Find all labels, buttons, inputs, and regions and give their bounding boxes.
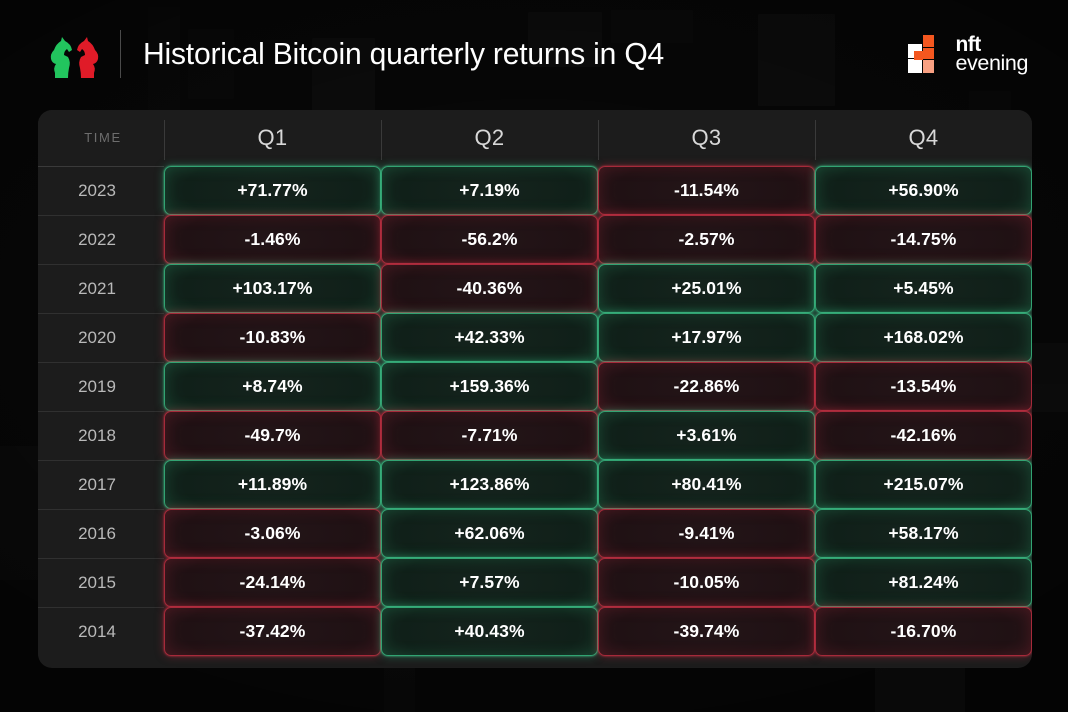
return-cell-negative[interactable]: -3.06%: [164, 509, 381, 558]
return-cell-wrapper: -56.2%: [381, 215, 598, 264]
return-cell-wrapper: +11.89%: [164, 460, 381, 509]
year-cell: 2017: [38, 460, 164, 509]
return-cell-wrapper: +71.77%: [164, 166, 381, 215]
header-bar: Historical Bitcoin quarterly returns in …: [0, 0, 1068, 108]
return-value: -37.42%: [240, 621, 306, 642]
return-cell-positive[interactable]: +80.41%: [598, 460, 815, 509]
year-cell: 2015: [38, 558, 164, 607]
return-cell-positive[interactable]: +25.01%: [598, 264, 815, 313]
return-value: -49.7%: [244, 425, 300, 446]
return-value: +5.45%: [893, 278, 953, 299]
return-cell-positive[interactable]: +71.77%: [164, 166, 381, 215]
return-cell-wrapper: +123.86%: [381, 460, 598, 509]
return-value: -16.70%: [891, 621, 957, 642]
return-cell-negative[interactable]: -2.57%: [598, 215, 815, 264]
column-header-q1: Q1: [164, 110, 381, 166]
return-value: -2.57%: [678, 229, 734, 250]
brand-text: nft evening: [955, 36, 1028, 73]
table-row: 2019+8.74%+159.36%-22.86%-13.54%: [38, 362, 1032, 411]
return-cell-wrapper: -14.75%: [815, 215, 1032, 264]
return-cell-wrapper: +81.24%: [815, 558, 1032, 607]
table-row: 2014-37.42%+40.43%-39.74%-16.70%: [38, 607, 1032, 656]
return-value: +42.33%: [454, 327, 524, 348]
return-cell-positive[interactable]: +11.89%: [164, 460, 381, 509]
return-cell-wrapper: -24.14%: [164, 558, 381, 607]
return-cell-negative[interactable]: -22.86%: [598, 362, 815, 411]
return-cell-negative[interactable]: -10.05%: [598, 558, 815, 607]
return-value: +168.02%: [883, 327, 963, 348]
return-value: -11.54%: [674, 180, 739, 201]
return-cell-positive[interactable]: +7.19%: [381, 166, 598, 215]
return-value: -24.14%: [240, 572, 306, 593]
table-row: 2016-3.06%+62.06%-9.41%+58.17%: [38, 509, 1032, 558]
return-value: -13.54%: [891, 376, 957, 397]
return-value: +17.97%: [671, 327, 741, 348]
return-cell-positive[interactable]: +3.61%: [598, 411, 815, 460]
column-header-time: TIME: [38, 110, 164, 166]
return-value: -10.05%: [674, 572, 740, 593]
return-cell-wrapper: -11.54%: [598, 166, 815, 215]
return-cell-positive[interactable]: +215.07%: [815, 460, 1032, 509]
return-cell-wrapper: -49.7%: [164, 411, 381, 460]
return-cell-negative[interactable]: -56.2%: [381, 215, 598, 264]
return-value: -42.16%: [891, 425, 957, 446]
return-value: -40.36%: [457, 278, 523, 299]
return-cell-negative[interactable]: -1.46%: [164, 215, 381, 264]
table-row: 2022-1.46%-56.2%-2.57%-14.75%: [38, 215, 1032, 264]
return-value: +56.90%: [888, 180, 958, 201]
return-value: -56.2%: [461, 229, 517, 250]
return-cell-positive[interactable]: +123.86%: [381, 460, 598, 509]
return-cell-negative[interactable]: -9.41%: [598, 509, 815, 558]
return-cell-positive[interactable]: +81.24%: [815, 558, 1032, 607]
return-cell-positive[interactable]: +168.02%: [815, 313, 1032, 362]
year-cell: 2016: [38, 509, 164, 558]
return-cell-positive[interactable]: +8.74%: [164, 362, 381, 411]
return-cell-wrapper: -39.74%: [598, 607, 815, 656]
return-value: +40.43%: [454, 621, 524, 642]
return-cell-positive[interactable]: +159.36%: [381, 362, 598, 411]
return-cell-positive[interactable]: +58.17%: [815, 509, 1032, 558]
return-cell-wrapper: -16.70%: [815, 607, 1032, 656]
return-cell-wrapper: -37.42%: [164, 607, 381, 656]
table-row: 2017+11.89%+123.86%+80.41%+215.07%: [38, 460, 1032, 509]
return-value: +80.41%: [671, 474, 741, 495]
return-value: +58.17%: [888, 523, 958, 544]
return-cell-wrapper: +58.17%: [815, 509, 1032, 558]
return-value: -9.41%: [678, 523, 734, 544]
return-cell-wrapper: +7.19%: [381, 166, 598, 215]
return-value: -10.83%: [240, 327, 306, 348]
brand-line-2: evening: [955, 55, 1028, 73]
return-value: +7.57%: [459, 572, 519, 593]
return-cell-negative[interactable]: -40.36%: [381, 264, 598, 313]
return-value: -14.75%: [891, 229, 957, 250]
return-cell-wrapper: -2.57%: [598, 215, 815, 264]
return-cell-wrapper: +168.02%: [815, 313, 1032, 362]
return-cell-wrapper: +103.17%: [164, 264, 381, 313]
return-value: -7.71%: [461, 425, 517, 446]
return-cell-wrapper: -9.41%: [598, 509, 815, 558]
return-cell-wrapper: -10.05%: [598, 558, 815, 607]
page-title: Historical Bitcoin quarterly returns in …: [143, 37, 664, 72]
return-cell-wrapper: +215.07%: [815, 460, 1032, 509]
table-body: 2023+71.77%+7.19%-11.54%+56.90%2022-1.46…: [38, 166, 1032, 656]
table-row: 2018-49.7%-7.71%+3.61%-42.16%: [38, 411, 1032, 460]
return-cell-wrapper: +8.74%: [164, 362, 381, 411]
return-cell-wrapper: -1.46%: [164, 215, 381, 264]
return-value: +103.17%: [232, 278, 312, 299]
return-value: +62.06%: [454, 523, 524, 544]
return-cell-negative[interactable]: -7.71%: [381, 411, 598, 460]
return-value: -1.46%: [244, 229, 300, 250]
return-cell-wrapper: +80.41%: [598, 460, 815, 509]
return-cell-wrapper: +7.57%: [381, 558, 598, 607]
return-cell-negative[interactable]: -16.70%: [815, 607, 1032, 656]
return-value: +25.01%: [671, 278, 741, 299]
return-cell-positive[interactable]: +56.90%: [815, 166, 1032, 215]
year-cell: 2023: [38, 166, 164, 215]
column-header-q4: Q4: [815, 110, 1032, 166]
return-cell-positive[interactable]: +103.17%: [164, 264, 381, 313]
return-value: -22.86%: [674, 376, 740, 397]
return-cell-positive[interactable]: +42.33%: [381, 313, 598, 362]
return-cell-wrapper: -22.86%: [598, 362, 815, 411]
return-cell-positive[interactable]: +62.06%: [381, 509, 598, 558]
brand-logo: nft evening: [908, 35, 1028, 73]
return-value: +215.07%: [883, 474, 963, 495]
year-cell: 2020: [38, 313, 164, 362]
table-row: 2015-24.14%+7.57%-10.05%+81.24%: [38, 558, 1032, 607]
return-cell-wrapper: -3.06%: [164, 509, 381, 558]
table-row: 2023+71.77%+7.19%-11.54%+56.90%: [38, 166, 1032, 215]
return-value: +3.61%: [676, 425, 736, 446]
return-cell-wrapper: +5.45%: [815, 264, 1032, 313]
return-cell-wrapper: -7.71%: [381, 411, 598, 460]
quarterly-returns-table: TIME Q1 Q2 Q3 Q4 2023+71.77%+7.19%-11.54…: [38, 110, 1032, 656]
return-value: -39.74%: [674, 621, 740, 642]
return-cell-positive[interactable]: +7.57%: [381, 558, 598, 607]
chess-pieces-icon: [42, 32, 106, 80]
return-cell-wrapper: +62.06%: [381, 509, 598, 558]
year-cell: 2022: [38, 215, 164, 264]
nft-evening-squares-icon: [908, 35, 946, 73]
return-cell-negative[interactable]: -37.42%: [164, 607, 381, 656]
return-cell-wrapper: +40.43%: [381, 607, 598, 656]
return-cell-negative[interactable]: -42.16%: [815, 411, 1032, 460]
return-value: +11.89%: [238, 474, 307, 495]
return-cell-negative[interactable]: -10.83%: [164, 313, 381, 362]
table-row: 2020-10.83%+42.33%+17.97%+168.02%: [38, 313, 1032, 362]
return-cell-wrapper: +56.90%: [815, 166, 1032, 215]
return-cell-negative[interactable]: -24.14%: [164, 558, 381, 607]
return-cell-wrapper: -13.54%: [815, 362, 1032, 411]
returns-table-panel: TIME Q1 Q2 Q3 Q4 2023+71.77%+7.19%-11.54…: [38, 110, 1032, 668]
return-cell-wrapper: +159.36%: [381, 362, 598, 411]
table-header-row: TIME Q1 Q2 Q3 Q4: [38, 110, 1032, 166]
return-value: -3.06%: [244, 523, 300, 544]
return-cell-wrapper: +42.33%: [381, 313, 598, 362]
return-value: +159.36%: [449, 376, 529, 397]
return-value: +7.19%: [459, 180, 519, 201]
return-cell-negative[interactable]: -39.74%: [598, 607, 815, 656]
return-cell-negative[interactable]: -49.7%: [164, 411, 381, 460]
return-cell-wrapper: +3.61%: [598, 411, 815, 460]
column-header-q3: Q3: [598, 110, 815, 166]
year-cell: 2019: [38, 362, 164, 411]
return-value: +8.74%: [242, 376, 302, 397]
return-cell-wrapper: -10.83%: [164, 313, 381, 362]
year-cell: 2018: [38, 411, 164, 460]
table-row: 2021+103.17%-40.36%+25.01%+5.45%: [38, 264, 1032, 313]
year-cell: 2014: [38, 607, 164, 656]
return-cell-wrapper: +25.01%: [598, 264, 815, 313]
header-divider: [120, 30, 121, 78]
return-cell-negative[interactable]: -13.54%: [815, 362, 1032, 411]
return-cell-wrapper: -42.16%: [815, 411, 1032, 460]
year-cell: 2021: [38, 264, 164, 313]
return-cell-positive[interactable]: +17.97%: [598, 313, 815, 362]
column-header-q2: Q2: [381, 110, 598, 166]
return-value: +123.86%: [449, 474, 529, 495]
return-cell-wrapper: +17.97%: [598, 313, 815, 362]
return-cell-wrapper: -40.36%: [381, 264, 598, 313]
return-cell-negative[interactable]: -14.75%: [815, 215, 1032, 264]
table-header: TIME Q1 Q2 Q3 Q4: [38, 110, 1032, 166]
return-cell-positive[interactable]: +5.45%: [815, 264, 1032, 313]
return-cell-positive[interactable]: +40.43%: [381, 607, 598, 656]
return-value: +71.77%: [237, 180, 307, 201]
return-cell-negative[interactable]: -11.54%: [598, 166, 815, 215]
return-value: +81.24%: [888, 572, 958, 593]
